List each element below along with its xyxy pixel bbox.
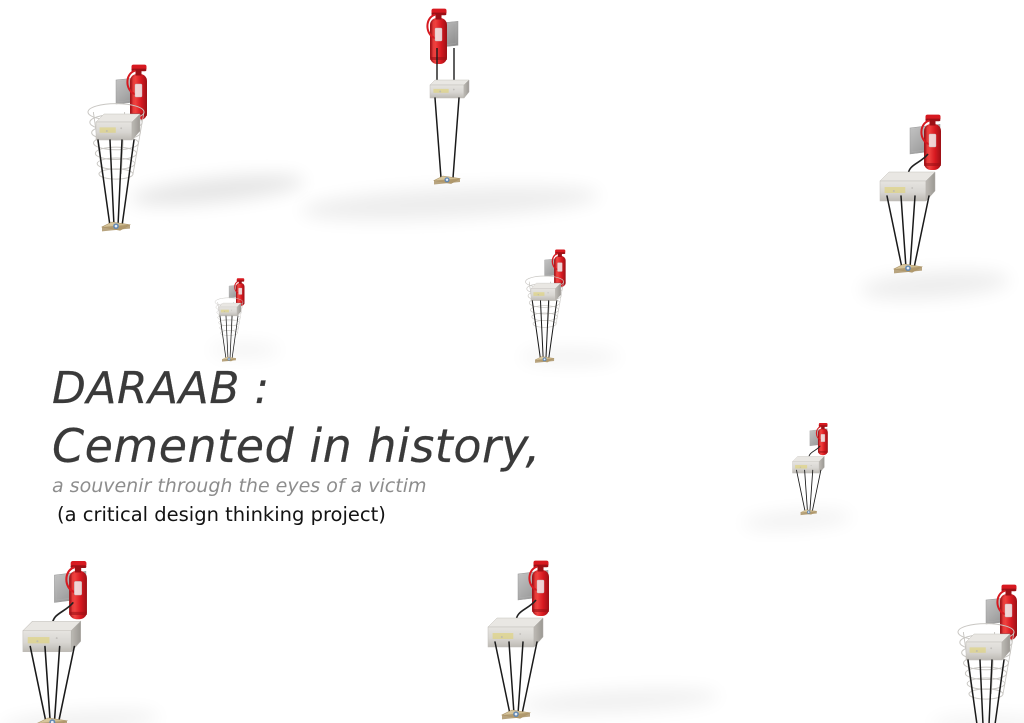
daraab-render-top-left [74,58,194,248]
page-tagline: a souvenir through the eyes of a victim [52,474,612,498]
page-title: DARAAB : [52,366,612,412]
daraab-render-mid-left [208,275,268,370]
wood-base [434,176,460,185]
page-subtitle: Cemented in history, [52,420,612,472]
daraab-render-bottom-center [470,552,590,723]
concrete-block [531,283,561,301]
wood-base [38,718,67,723]
daraab-render-mid-center [516,245,598,374]
wood-base [894,264,922,273]
wood-base [801,510,817,515]
concrete-block [430,80,469,98]
wood-base [502,710,530,719]
daraab-render-top-center [410,6,530,196]
wood-base [222,357,236,362]
concrete-block [23,621,81,651]
concrete-block [792,456,824,473]
concrete-block [488,618,543,647]
fire-extinguisher [816,423,827,455]
daraab-render-right-mid [782,418,852,528]
rebar-legs [98,140,134,226]
daraab-render-bottom-left [4,552,130,723]
wood-base [102,222,130,231]
daraab-render-bottom-right [944,578,1024,723]
rebar-legs [532,301,556,359]
rebar-legs [220,316,238,359]
concrete-block [219,303,241,316]
fire-extinguisher [529,561,549,616]
poster-canvas: DARAAB : Cemented in history, a souvenir… [0,0,1024,723]
rebar-legs [887,196,929,268]
fire-extinguisher [66,561,87,619]
rebar-legs [495,642,537,714]
concrete-block [96,114,140,140]
daraab-render-top-right [862,106,982,296]
title-block: DARAAB : Cemented in history, a souvenir… [52,366,612,528]
concrete-block [880,172,935,201]
page-descriptor: (a critical design thinking project) [57,502,612,528]
rebar-legs [797,470,821,512]
rebar-legs [30,647,74,723]
rebar-legs [435,98,459,178]
fire-extinguisher [921,115,941,170]
wood-base [535,357,554,363]
concrete-block [966,634,1010,660]
